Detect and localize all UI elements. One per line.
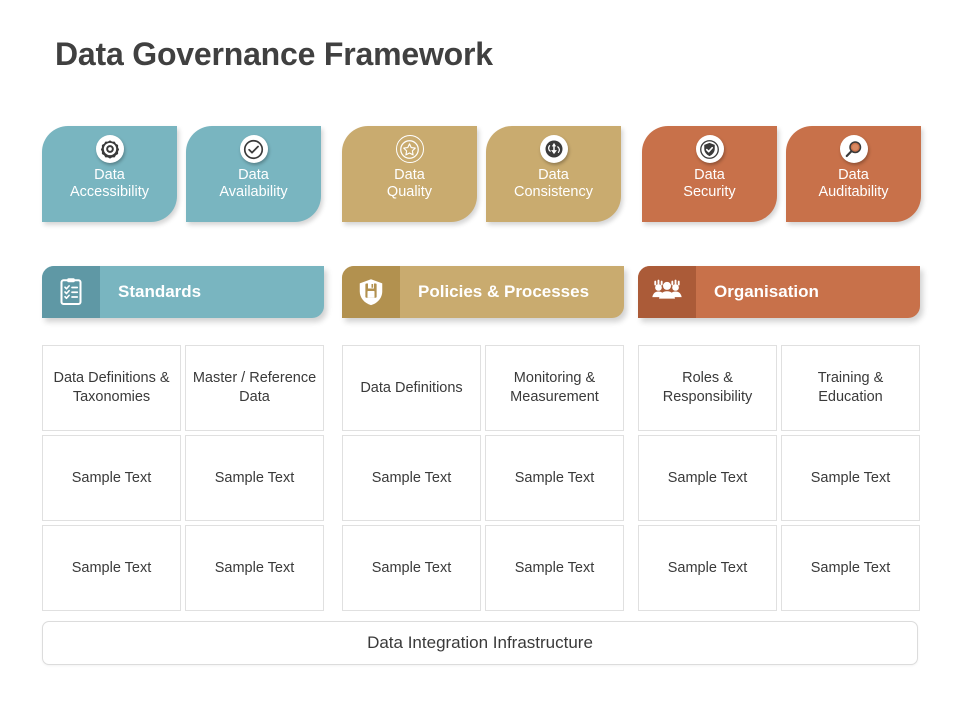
pillar-item-label: Roles & Responsibility [645,369,770,407]
pillar-banner-organisation[interactable]: Organisation [638,266,920,318]
capability-card-label: DataQuality [387,167,432,201]
pillar-item-label: Sample Text [515,469,595,488]
shield-document-icon [342,266,400,318]
pillar-item-cell[interactable]: Sample Text [342,525,481,611]
capability-card-line1: Data [838,167,869,183]
capability-card-label: DataAvailability [219,167,287,201]
capability-card-label: DataSecurity [683,167,735,201]
recycle-icon [540,135,568,163]
pillar-item-grid: Data DefinitionsMonitoring & Measurement… [342,345,624,611]
pillar-item-label: Sample Text [72,559,152,578]
capability-card-accessibility[interactable]: DataAccessibility [42,126,177,222]
star-circle-icon [396,135,424,163]
pillar-item-label: Master / Reference Data [192,369,317,407]
pillar-item-label: Sample Text [668,559,748,578]
pillar-banner-standards[interactable]: Standards [42,266,324,318]
capability-card-consistency[interactable]: DataConsistency [486,126,621,222]
shield-check-icon [696,135,724,163]
pillar-banners-row: StandardsPolicies & ProcessesOrganisatio… [0,266,960,322]
check-circle-icon [240,135,268,163]
capability-card-line2: Auditability [818,184,888,200]
pillar-item-cell[interactable]: Sample Text [485,435,624,521]
pillar-item-cell[interactable]: Sample Text [185,525,324,611]
capability-card-line1: Data [694,167,725,183]
capability-cards-row: DataAccessibilityDataAvailabilityDataQua… [0,126,960,222]
pillar-item-cell[interactable]: Sample Text [342,435,481,521]
pillar-item-cell[interactable]: Training & Education [781,345,920,431]
capability-card-auditability[interactable]: DataAuditability [786,126,921,222]
capability-card-line2: Security [683,184,735,200]
capability-card-line1: Data [538,167,569,183]
capability-card-availability[interactable]: DataAvailability [186,126,321,222]
capability-card-line1: Data [238,167,269,183]
pillar-item-label: Sample Text [372,469,452,488]
pillar-item-label: Monitoring & Measurement [492,369,617,407]
people-group-icon [638,266,696,318]
capability-card-line2: Availability [219,184,287,200]
pillar-item-grid: Roles & ResponsibilityTraining & Educati… [638,345,920,611]
pillar-item-cell[interactable]: Sample Text [781,435,920,521]
pillar-item-cell[interactable]: Master / Reference Data [185,345,324,431]
footer-label: Data Integration Infrastructure [367,633,593,653]
capability-card-line2: Accessibility [70,184,149,200]
pillar-item-label: Sample Text [215,559,295,578]
footer-bar: Data Integration Infrastructure [42,621,918,665]
capability-card-security[interactable]: DataSecurity [642,126,777,222]
pillar-banner-title: Organisation [714,282,819,302]
capability-card-quality[interactable]: DataQuality [342,126,477,222]
slide-canvas: Data Governance Framework DataAccessibil… [0,0,960,720]
pillar-item-label: Sample Text [811,469,891,488]
checklist-clipboard-icon [42,266,100,318]
page-title: Data Governance Framework [55,36,493,73]
pillar-item-cell[interactable]: Monitoring & Measurement [485,345,624,431]
capability-card-line1: Data [94,167,125,183]
pillar-banner-title: Policies & Processes [418,282,589,302]
target-gear-icon [96,135,124,163]
pillar-item-label: Data Definitions & Taxonomies [49,369,174,407]
pillar-item-label: Sample Text [72,469,152,488]
magnifier-icon [840,135,868,163]
pillar-item-label: Sample Text [215,469,295,488]
pillar-item-cell[interactable]: Roles & Responsibility [638,345,777,431]
pillar-item-cell[interactable]: Sample Text [42,525,181,611]
capability-card-label: DataAccessibility [70,167,149,201]
pillar-item-cell[interactable]: Sample Text [485,525,624,611]
capability-card-line1: Data [394,167,425,183]
pillar-banner-title: Standards [118,282,201,302]
pillar-item-label: Training & Education [788,369,913,407]
pillar-item-cell[interactable]: Data Definitions [342,345,481,431]
capability-card-label: DataAuditability [818,167,888,201]
pillar-item-cell[interactable]: Sample Text [638,525,777,611]
pillar-item-cell[interactable]: Data Definitions & Taxonomies [42,345,181,431]
pillar-item-cell[interactable]: Sample Text [42,435,181,521]
capability-card-line2: Quality [387,184,432,200]
pillar-item-label: Sample Text [515,559,595,578]
capability-card-line2: Consistency [514,184,593,200]
pillar-item-grid: Data Definitions & TaxonomiesMaster / Re… [42,345,324,611]
capability-card-label: DataConsistency [514,167,593,201]
pillar-item-cell[interactable]: Sample Text [781,525,920,611]
pillar-item-label: Sample Text [811,559,891,578]
pillar-banner-policies-processes[interactable]: Policies & Processes [342,266,624,318]
pillar-item-cell[interactable]: Sample Text [638,435,777,521]
pillar-item-label: Sample Text [668,469,748,488]
pillar-item-cell[interactable]: Sample Text [185,435,324,521]
pillar-item-label: Sample Text [372,559,452,578]
pillar-item-label: Data Definitions [360,379,462,398]
